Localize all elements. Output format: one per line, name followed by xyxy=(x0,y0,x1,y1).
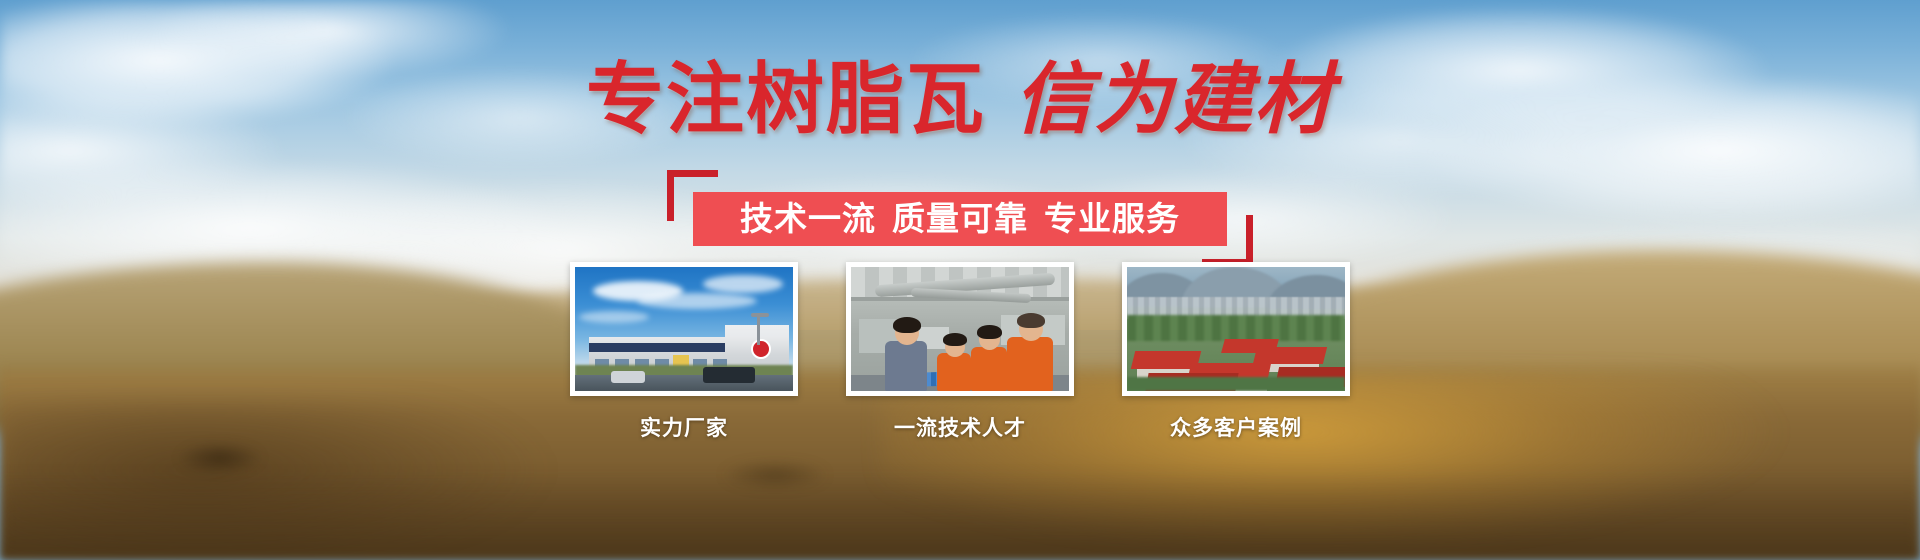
subtitle-item-3: 专业服务 xyxy=(1044,200,1180,237)
subtitle-item-1: 技术一流 xyxy=(740,200,876,237)
hero-banner: 专注树脂瓦信为建材 技术一流质量可靠专业服务 xyxy=(0,0,1920,560)
car-icon xyxy=(611,371,645,383)
village-red-roof-tiles-photo[interactable] xyxy=(1122,262,1350,396)
workers-scene-illustration xyxy=(851,267,1069,391)
factory-logo-icon xyxy=(751,339,771,359)
car-icon xyxy=(703,367,755,383)
feature-card-factory[interactable]: 实力厂家 xyxy=(570,262,798,442)
factory-building-photo[interactable] xyxy=(570,262,798,396)
village-scene-illustration xyxy=(1127,267,1345,391)
banner-subtitle-wrap: 技术一流质量可靠专业服务 xyxy=(0,170,1920,266)
street-lamp-icon xyxy=(751,313,769,317)
subtitle-item-2: 质量可靠 xyxy=(892,200,1028,237)
feature-card-cases[interactable]: 众多客户案例 xyxy=(1122,262,1350,442)
banner-subtitle-inner: 技术一流质量可靠专业服务 xyxy=(667,170,1253,266)
workers-production-line-photo[interactable] xyxy=(846,262,1074,396)
feature-cards: 实力厂家 一流技术人才 xyxy=(0,262,1920,452)
banner-headline: 专注树脂瓦信为建材 xyxy=(0,56,1920,142)
banner-subtitle-bar: 技术一流质量可靠专业服务 xyxy=(693,192,1227,246)
feature-card-caption: 众多客户案例 xyxy=(1122,412,1350,442)
headline-part-1: 专注树脂瓦 xyxy=(586,55,986,143)
headline-part-2: 信为建材 xyxy=(1014,55,1334,143)
banner-subtitle-text: 技术一流质量可靠专业服务 xyxy=(740,192,1180,246)
factory-scene-illustration xyxy=(575,267,793,391)
feature-card-caption: 一流技术人才 xyxy=(846,412,1074,442)
feature-card-caption: 实力厂家 xyxy=(570,412,798,442)
banner-content: 专注树脂瓦信为建材 技术一流质量可靠专业服务 xyxy=(0,0,1920,560)
feature-card-workers[interactable]: 一流技术人才 xyxy=(846,262,1074,442)
